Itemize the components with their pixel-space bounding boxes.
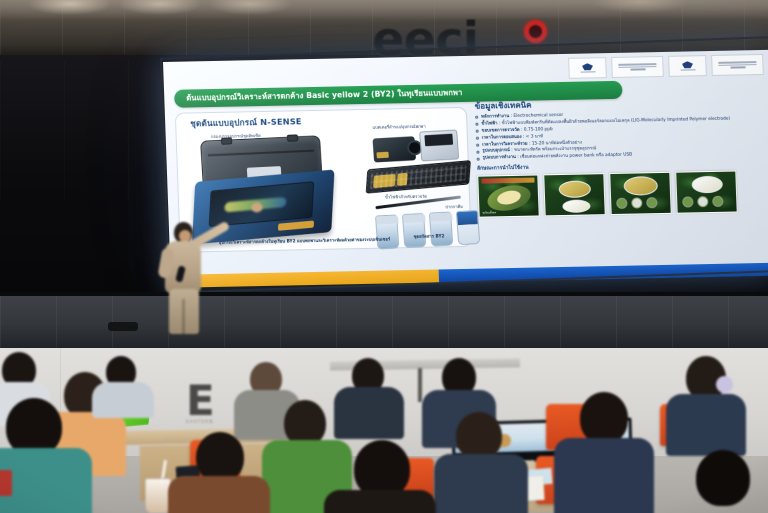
sample-vials-illustration <box>375 210 485 252</box>
slide-right-panel: ข้อมูลเชิงเทคนิค หลักการทำงาน : Electroc… <box>475 94 768 249</box>
application-thumbnails: ทุเรียนทั้งผล <box>477 170 768 218</box>
spec-label: ขอบเขตการตรวจวัด <box>482 128 520 134</box>
spec-value: เชื่อมต่อแหล่งจ่ายพลังงาน power bank หรื… <box>520 153 632 160</box>
label-battery: แบตเตอรี่สำรอง/อุปกรณ์พกพา <box>372 123 425 131</box>
agency-crest-2-icon <box>668 55 707 77</box>
audience-member <box>0 398 86 513</box>
thumbnail-durian-whole: ทุเรียนทั้งผล <box>477 175 539 218</box>
tech-spec-list: หลักการทำงาน : Electrochemical sensor ขั… <box>475 109 768 162</box>
label-tweezer: ปากกาคีบ <box>445 203 463 210</box>
eeci-logo-dot-icon <box>524 20 547 43</box>
spec-value: Electrochemical sensor <box>513 113 563 119</box>
agency-crest-1-icon <box>568 57 607 79</box>
spec-value: 15-20 นาทีต่อหนึ่งตัวอย่าง <box>532 140 582 146</box>
audience-member <box>440 412 520 513</box>
presenter <box>152 222 218 334</box>
conference-room-photo: eeci <box>0 0 768 513</box>
label-extract-kit: ชุดสกัดสาร BY2 <box>413 232 444 240</box>
slide-header-logos <box>568 54 764 79</box>
audience-member <box>176 432 262 513</box>
thumbnail-caption: ทุเรียนทั้งผล <box>483 212 497 216</box>
thumbnail-measure-steps <box>675 171 737 214</box>
audience-member <box>686 450 768 513</box>
slide-content: ต้นแบบอุปกรณ์วิเคราะห์สารตกค้าง Basic ye… <box>163 50 768 288</box>
label-electrode: ขั้วไฟฟ้าสำหรับตรวจวัด <box>385 193 427 201</box>
thumbnail-durian-flesh <box>543 174 605 217</box>
bullet-icon <box>475 123 478 126</box>
table-leg <box>418 368 422 402</box>
slide-body: ต้นแบบอุปกรณ์วิเคราะห์สารตกค้าง Basic ye… <box>163 50 768 275</box>
badge <box>0 470 12 496</box>
audience-member <box>668 356 744 454</box>
bullet-icon <box>476 130 479 133</box>
left-panel-heading: ชุดต้นแบบอุปกรณ์ N-SENSE <box>190 115 302 130</box>
projection-screen: ต้นแบบอุปกรณ์วิเคราะห์สารตกค้าง Basic ye… <box>163 50 768 288</box>
agency-text-2-icon <box>711 54 764 76</box>
bullet-icon <box>477 157 480 160</box>
spec-label: เวลาในการตอบสนอง <box>482 134 522 140</box>
thumbnail-extract-steps <box>609 172 671 215</box>
audience-member <box>96 356 152 414</box>
audience-member <box>330 440 430 513</box>
spec-value: 0.75-100 ppb <box>524 127 553 133</box>
bullet-icon <box>476 143 479 146</box>
bullet-icon <box>476 137 479 140</box>
electrode-strip-illustration <box>366 160 471 194</box>
bullet-icon <box>475 116 478 119</box>
stage-equipment-box <box>108 322 138 331</box>
spec-label: รูปแบบการทำงาน <box>483 155 516 161</box>
agency-text-1-icon <box>611 56 664 78</box>
power-bank-illustration <box>419 129 459 161</box>
spec-label: รูปแบบอุปกรณ์ <box>482 148 510 154</box>
spec-value: < 3 นาที <box>526 134 543 139</box>
spec-label: หลักการทำงาน <box>481 114 509 120</box>
spec-label: ขั้วไฟฟ้า <box>481 121 497 126</box>
spec-label: เวลาในการวิเคราะห์รวม <box>482 141 528 147</box>
audience-member <box>338 358 400 436</box>
battery-module-illustration <box>372 136 416 162</box>
audience-member <box>562 392 646 513</box>
hair-accessory <box>716 376 733 393</box>
presenter-legs <box>169 289 199 334</box>
spec-value: ขนาดกะทัดรัด พร้อมกระเป๋าบรรจุชุดอุปกรณ์ <box>514 147 596 154</box>
bullet-icon <box>476 150 479 153</box>
